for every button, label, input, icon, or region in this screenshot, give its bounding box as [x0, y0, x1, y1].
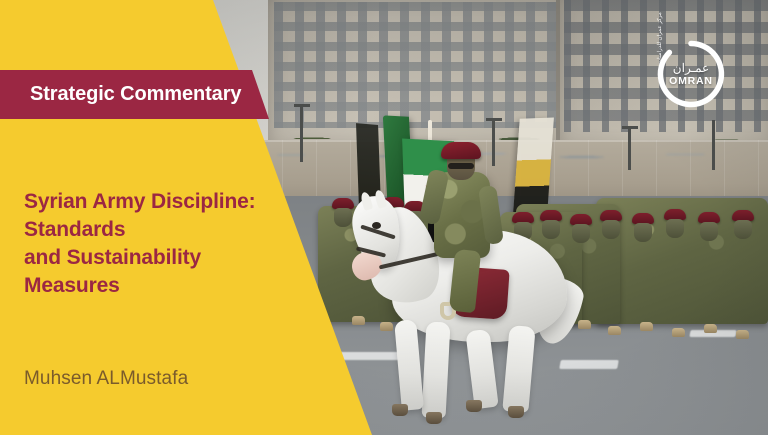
boot-icon-6 [672, 328, 685, 337]
soldier-face-9 [634, 223, 652, 242]
boot-icon-8 [736, 330, 749, 339]
wall-graffiti [250, 142, 768, 168]
boot-icon-9 [352, 316, 365, 325]
road-marking-2 [559, 360, 619, 369]
boot-icon-10 [380, 322, 393, 331]
horse-hoof-2 [466, 400, 482, 412]
poster-canvas: Strategic Commentary Syrian Army Discipl… [0, 0, 768, 435]
soldier-face-8 [602, 220, 620, 239]
soldier-face-12 [734, 220, 752, 239]
boot-icon-3 [578, 320, 591, 329]
horse-hoof-1 [508, 406, 524, 418]
horse-leg-front-1 [422, 321, 451, 418]
omran-logo[interactable]: مركز عمران للدراسات عمـران OMRAN [655, 38, 727, 110]
omran-logo-english: OMRAN [655, 76, 727, 87]
soldier-face-7 [572, 224, 590, 243]
soldier-face-6 [542, 220, 560, 239]
soldier-face-10 [666, 219, 684, 238]
boot-icon-7 [704, 324, 717, 333]
strategic-commentary-banner: Strategic Commentary [0, 70, 280, 119]
page-title: Syrian Army Discipline: Standards and Su… [24, 188, 286, 300]
lamp-post-1 [300, 104, 303, 162]
horse-hoof-3 [426, 412, 442, 424]
boot-icon-5 [640, 322, 653, 331]
lamp-post-2 [492, 118, 495, 166]
soldier-face-11 [700, 222, 718, 241]
lamp-post-3 [628, 126, 631, 170]
soldier-face-1 [334, 208, 352, 227]
lamp-arm-2 [486, 118, 502, 121]
boot-icon-4 [608, 326, 621, 335]
omran-logo-side-arabic: مركز عمران للدراسات [657, 12, 663, 64]
officer-maroon-beret-icon [441, 142, 481, 159]
sunglasses-icon [448, 163, 474, 169]
banner-label: Strategic Commentary [0, 83, 241, 106]
omran-logo-arabic: عمـران [655, 62, 727, 74]
horse-hoof-4 [392, 404, 408, 416]
lamp-arm-3 [622, 126, 638, 129]
author-name: Muhsen ALMustafa [24, 368, 188, 390]
lamp-post-4 [712, 120, 715, 170]
lamp-arm-1 [294, 104, 310, 107]
